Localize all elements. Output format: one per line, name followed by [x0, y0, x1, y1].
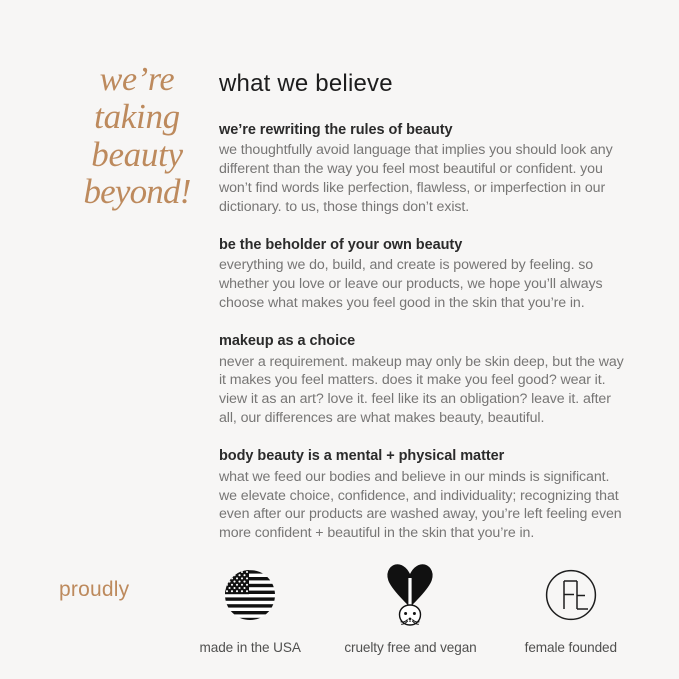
page-title: what we believe	[219, 70, 625, 99]
female-founded-monogram-icon	[544, 560, 598, 630]
belief-heading: body beauty is a mental + physical matte…	[219, 447, 625, 467]
proudly-label: proudly	[59, 579, 129, 600]
belief-section: makeup as a choice never a requirement. …	[219, 332, 625, 428]
badge-cruelty-free: cruelty free and vegan	[330, 560, 490, 655]
belief-section: be the beholder of your own beauty every…	[219, 236, 625, 313]
tagline-line-1: we’re	[62, 62, 212, 98]
tagline-line-3: beauty	[62, 136, 212, 173]
belief-body: never a requirement. makeup may only be …	[219, 353, 625, 429]
badge-label: made in the USA	[200, 640, 301, 655]
brand-values-panel: we’re taking beauty beyond! what we beli…	[0, 0, 679, 679]
beliefs-column: what we believe we’re rewriting the rule…	[219, 70, 625, 543]
belief-body: everything we do, build, and create is p…	[219, 256, 625, 313]
badge-label: cruelty free and vegan	[344, 640, 476, 655]
belief-body: what we feed our bodies and believe in o…	[219, 468, 625, 544]
belief-heading: makeup as a choice	[219, 332, 625, 352]
belief-section: we’re rewriting the rules of beauty we t…	[219, 121, 625, 217]
tagline-line-2: taking	[62, 98, 212, 135]
badge-female-founded: female founded	[491, 560, 651, 655]
badges-footer: proudly	[0, 560, 679, 670]
belief-heading: we’re rewriting the rules of beauty	[219, 121, 625, 141]
usa-flag-circle-icon	[224, 560, 276, 630]
belief-section: body beauty is a mental + physical matte…	[219, 447, 625, 543]
tagline-line-4: beyond!	[62, 173, 212, 210]
badge-row: made in the USA	[170, 560, 651, 655]
badge-label: female founded	[525, 640, 617, 655]
badge-made-in-usa: made in the USA	[170, 560, 330, 655]
belief-heading: be the beholder of your own beauty	[219, 236, 625, 256]
brand-tagline: we’re taking beauty beyond!	[62, 62, 212, 211]
cruelty-free-bunny-icon	[381, 560, 439, 630]
belief-body: we thoughtfully avoid language that impl…	[219, 141, 625, 217]
